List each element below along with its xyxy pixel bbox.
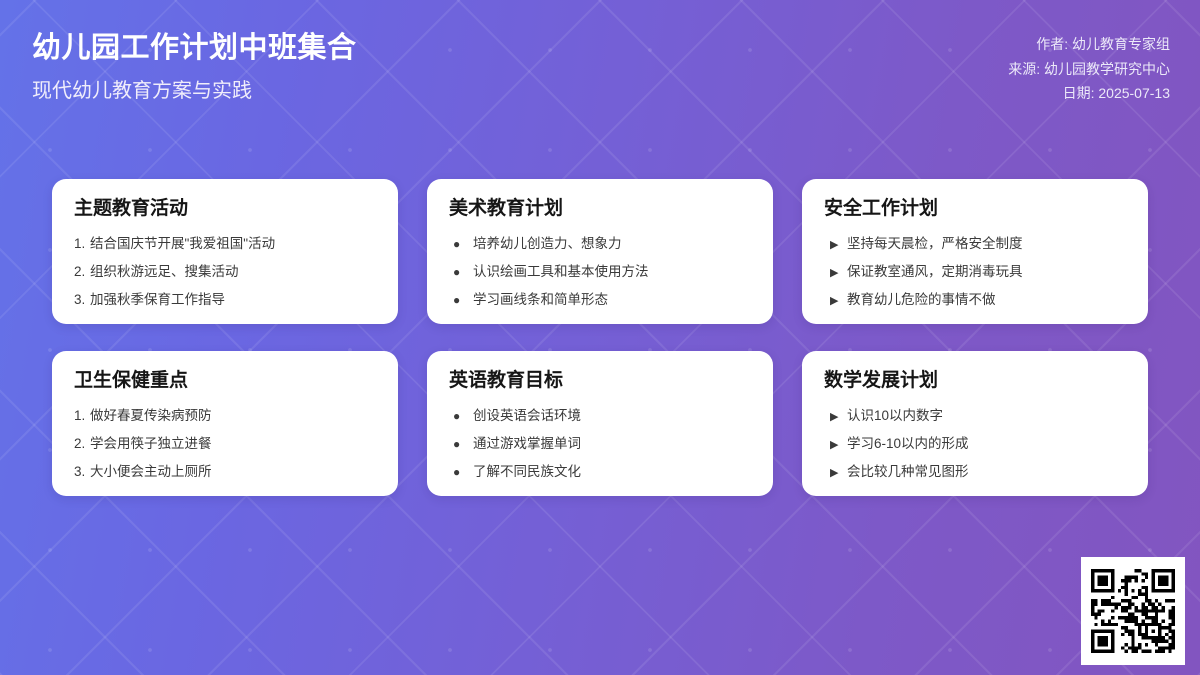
list-item: ●学习画线条和简单形态 xyxy=(449,291,751,309)
list-marker-icon: ● xyxy=(449,264,469,280)
card-list: 1.结合国庆节开展"我爱祖国"活动2.组织秋游远足、搜集活动3.加强秋季保育工作… xyxy=(74,235,376,310)
meta-author: 作者: 幼儿教育专家组 xyxy=(1036,36,1170,54)
content-card: 主题教育活动1.结合国庆节开展"我爱祖国"活动2.组织秋游远足、搜集活动3.加强… xyxy=(52,179,398,324)
list-item-text: 坚持每天晨检，严格安全制度 xyxy=(847,235,1023,253)
list-item: 2.学会用筷子独立进餐 xyxy=(74,435,376,453)
list-marker-icon: 1. xyxy=(74,235,89,253)
list-marker-icon: 3. xyxy=(74,291,89,309)
card-title: 英语教育目标 xyxy=(449,370,751,393)
list-marker-icon: 3. xyxy=(74,463,89,481)
card-list: 1.做好春夏传染病预防2.学会用筷子独立进餐3.大小便会主动上厕所 xyxy=(74,407,376,482)
list-marker-icon: ▶ xyxy=(824,294,844,309)
card-list: ●培养幼儿创造力、想象力●认识绘画工具和基本使用方法●学习画线条和简单形态 xyxy=(449,235,751,310)
list-item-text: 学习画线条和简单形态 xyxy=(473,291,608,309)
card-title: 主题教育活动 xyxy=(74,198,376,221)
list-item: 3.加强秋季保育工作指导 xyxy=(74,291,376,309)
header-metadata: 作者: 幼儿教育专家组 来源: 幼儿园教学研究中心 日期: 2025-07-13 xyxy=(1008,30,1170,103)
list-item: ●创设英语会话环境 xyxy=(449,407,751,425)
list-item-text: 保证教室通风，定期消毒玩具 xyxy=(847,263,1023,281)
list-item: ●通过游戏掌握单词 xyxy=(449,435,751,453)
list-item: 1.做好春夏传染病预防 xyxy=(74,407,376,425)
list-item: ▶认识10以内数字 xyxy=(824,407,1126,425)
list-marker-icon: ▶ xyxy=(824,438,844,453)
list-marker-icon: 1. xyxy=(74,407,89,425)
list-marker-icon: ▶ xyxy=(824,266,844,281)
content-card: 英语教育目标●创设英语会话环境●通过游戏掌握单词●了解不同民族文化 xyxy=(427,351,773,496)
list-marker-icon: ● xyxy=(449,436,469,452)
list-marker-icon: ● xyxy=(449,408,469,424)
list-marker-icon: ● xyxy=(449,292,469,308)
card-title: 安全工作计划 xyxy=(824,198,1126,221)
list-item-text: 教育幼儿危险的事情不做 xyxy=(847,291,996,309)
list-item: ●认识绘画工具和基本使用方法 xyxy=(449,263,751,281)
list-item-text: 做好春夏传染病预防 xyxy=(90,407,212,425)
list-item-text: 组织秋游远足、搜集活动 xyxy=(90,263,239,281)
slide-header: 幼儿园工作计划中班集合 现代幼儿教育方案与实践 作者: 幼儿教育专家组 来源: … xyxy=(0,0,1200,140)
card-list: ▶认识10以内数字▶学习6-10以内的形成▶会比较几种常见图形 xyxy=(824,407,1126,482)
content-card: 数学发展计划▶认识10以内数字▶学习6-10以内的形成▶会比较几种常见图形 xyxy=(802,351,1148,496)
qr-code[interactable] xyxy=(1081,557,1185,665)
content-card: 美术教育计划●培养幼儿创造力、想象力●认识绘画工具和基本使用方法●学习画线条和简… xyxy=(427,179,773,324)
list-item: ▶坚持每天晨检，严格安全制度 xyxy=(824,235,1126,253)
list-item-text: 大小便会主动上厕所 xyxy=(90,463,212,481)
page-subtitle: 现代幼儿教育方案与实践 xyxy=(32,78,357,104)
list-item: ▶学习6-10以内的形成 xyxy=(824,435,1126,453)
content-card: 卫生保健重点1.做好春夏传染病预防2.学会用筷子独立进餐3.大小便会主动上厕所 xyxy=(52,351,398,496)
slide-root: 幼儿园工作计划中班集合 现代幼儿教育方案与实践 作者: 幼儿教育专家组 来源: … xyxy=(0,0,1200,675)
list-marker-icon: ● xyxy=(449,236,469,252)
meta-date: 日期: 2025-07-13 xyxy=(1063,85,1170,103)
list-item: 2.组织秋游远足、搜集活动 xyxy=(74,263,376,281)
content-card: 安全工作计划▶坚持每天晨检，严格安全制度▶保证教室通风，定期消毒玩具▶教育幼儿危… xyxy=(802,179,1148,324)
card-title: 美术教育计划 xyxy=(449,198,751,221)
list-item-text: 学习6-10以内的形成 xyxy=(847,435,969,453)
card-list: ●创设英语会话环境●通过游戏掌握单词●了解不同民族文化 xyxy=(449,407,751,482)
list-item-text: 会比较几种常见图形 xyxy=(847,463,969,481)
list-item: ▶教育幼儿危险的事情不做 xyxy=(824,291,1126,309)
list-marker-icon: ▶ xyxy=(824,410,844,425)
qr-code-icon xyxy=(1091,569,1175,653)
header-title-group: 幼儿园工作计划中班集合 现代幼儿教育方案与实践 xyxy=(32,30,357,104)
list-marker-icon: ▶ xyxy=(824,238,844,253)
list-item-text: 创设英语会话环境 xyxy=(473,407,581,425)
page-title: 幼儿园工作计划中班集合 xyxy=(32,30,357,66)
card-title: 卫生保健重点 xyxy=(74,370,376,393)
card-grid: 主题教育活动1.结合国庆节开展"我爱祖国"活动2.组织秋游远足、搜集活动3.加强… xyxy=(52,179,1148,496)
list-item-text: 了解不同民族文化 xyxy=(473,463,581,481)
list-item: ▶保证教室通风，定期消毒玩具 xyxy=(824,263,1126,281)
list-item: ●培养幼儿创造力、想象力 xyxy=(449,235,751,253)
list-item: ●了解不同民族文化 xyxy=(449,463,751,481)
list-item-text: 认识10以内数字 xyxy=(847,407,943,425)
list-item-text: 加强秋季保育工作指导 xyxy=(90,291,225,309)
list-item: 3.大小便会主动上厕所 xyxy=(74,463,376,481)
list-item-text: 认识绘画工具和基本使用方法 xyxy=(473,263,649,281)
list-marker-icon: ▶ xyxy=(824,466,844,481)
list-marker-icon: ● xyxy=(449,464,469,480)
meta-source: 来源: 幼儿园教学研究中心 xyxy=(1008,61,1170,79)
list-item-text: 学会用筷子独立进餐 xyxy=(90,435,212,453)
card-list: ▶坚持每天晨检，严格安全制度▶保证教室通风，定期消毒玩具▶教育幼儿危险的事情不做 xyxy=(824,235,1126,310)
list-marker-icon: 2. xyxy=(74,263,89,281)
list-marker-icon: 2. xyxy=(74,435,89,453)
card-title: 数学发展计划 xyxy=(824,370,1126,393)
list-item-text: 培养幼儿创造力、想象力 xyxy=(473,235,622,253)
list-item-text: 结合国庆节开展"我爱祖国"活动 xyxy=(90,235,275,253)
list-item: ▶会比较几种常见图形 xyxy=(824,463,1126,481)
list-item: 1.结合国庆节开展"我爱祖国"活动 xyxy=(74,235,376,253)
list-item-text: 通过游戏掌握单词 xyxy=(473,435,581,453)
